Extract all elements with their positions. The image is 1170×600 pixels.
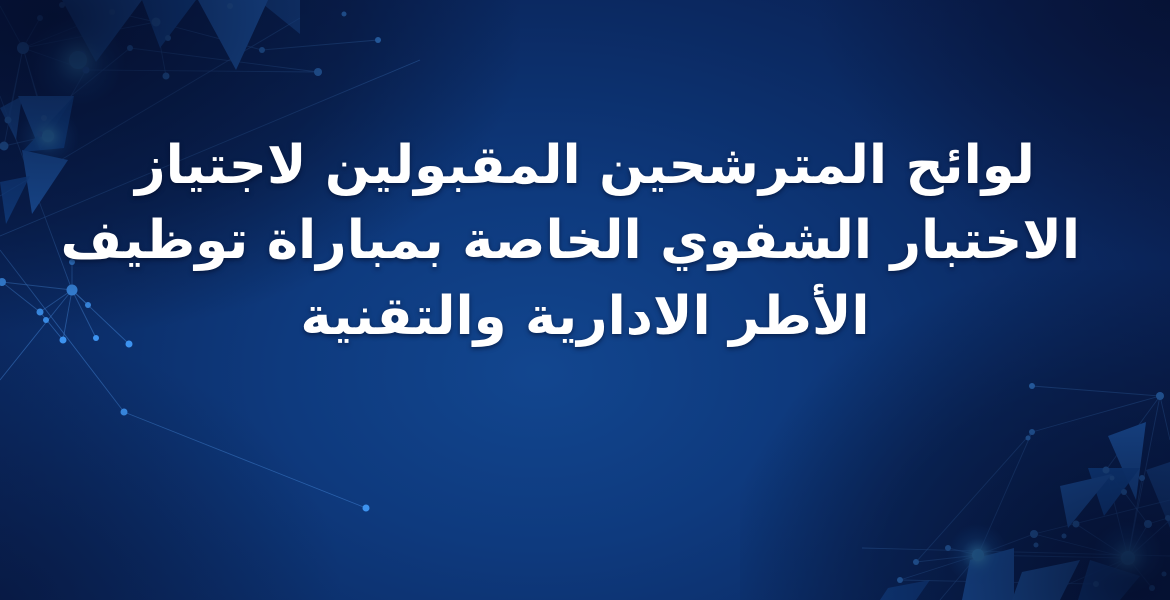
network-node bbox=[69, 51, 87, 69]
network-node bbox=[83, 67, 90, 74]
network-node bbox=[1103, 467, 1110, 474]
network-node bbox=[913, 559, 919, 565]
network-node bbox=[152, 18, 161, 27]
network-node bbox=[1110, 476, 1115, 481]
title-line-2: الاختبار الشفوي الخاصة بمباراة توظيف bbox=[90, 203, 1080, 278]
network-line bbox=[1032, 386, 1160, 396]
network-node bbox=[165, 35, 171, 41]
network-node bbox=[897, 577, 903, 583]
title-line-3: الأطر الادارية والتقنية bbox=[90, 279, 1080, 354]
network-node bbox=[109, 9, 115, 15]
network-line bbox=[124, 412, 366, 508]
network-node bbox=[1149, 585, 1155, 591]
network-node bbox=[1062, 534, 1067, 539]
network-node bbox=[1030, 530, 1038, 538]
page-title: لوائح المترشحين المقبولين لاجتياز الاختب… bbox=[0, 128, 1170, 354]
title-line-1: لوائح المترشحين المقبولين لاجتياز bbox=[90, 128, 1080, 203]
network-node bbox=[163, 73, 170, 80]
network-node bbox=[41, 115, 47, 121]
network-triangle bbox=[880, 580, 930, 600]
network-node bbox=[375, 37, 381, 43]
network-node bbox=[363, 505, 370, 512]
network-node bbox=[127, 45, 133, 51]
network-line bbox=[1160, 396, 1170, 440]
network-node bbox=[227, 3, 233, 9]
network-node bbox=[1026, 436, 1031, 441]
network-line bbox=[262, 40, 378, 50]
network-node bbox=[1121, 551, 1135, 565]
network-line bbox=[0, 6, 23, 48]
network-node bbox=[1162, 572, 1167, 577]
network-node bbox=[1144, 520, 1152, 528]
network-node bbox=[17, 42, 29, 54]
network-node bbox=[1121, 489, 1127, 495]
network-node bbox=[259, 47, 265, 53]
network-node bbox=[121, 409, 128, 416]
network-triangle bbox=[1012, 560, 1080, 600]
network-node bbox=[314, 68, 322, 76]
network-node bbox=[1139, 475, 1145, 481]
network-node bbox=[1093, 581, 1099, 587]
network-node bbox=[1034, 543, 1039, 548]
network-node bbox=[37, 15, 43, 21]
network-node bbox=[1073, 521, 1080, 528]
network-line bbox=[130, 48, 318, 72]
network-node bbox=[5, 117, 12, 124]
network-node bbox=[342, 12, 347, 17]
network-node bbox=[945, 545, 951, 551]
network-node bbox=[972, 549, 984, 561]
network-node bbox=[1156, 392, 1164, 400]
network-node bbox=[1029, 429, 1035, 435]
network-node bbox=[59, 2, 65, 8]
network-triangle bbox=[198, 0, 268, 70]
network-node bbox=[1029, 383, 1035, 389]
slide-canvas: لوائح المترشحين المقبولين لاجتياز الاختب… bbox=[0, 0, 1170, 600]
